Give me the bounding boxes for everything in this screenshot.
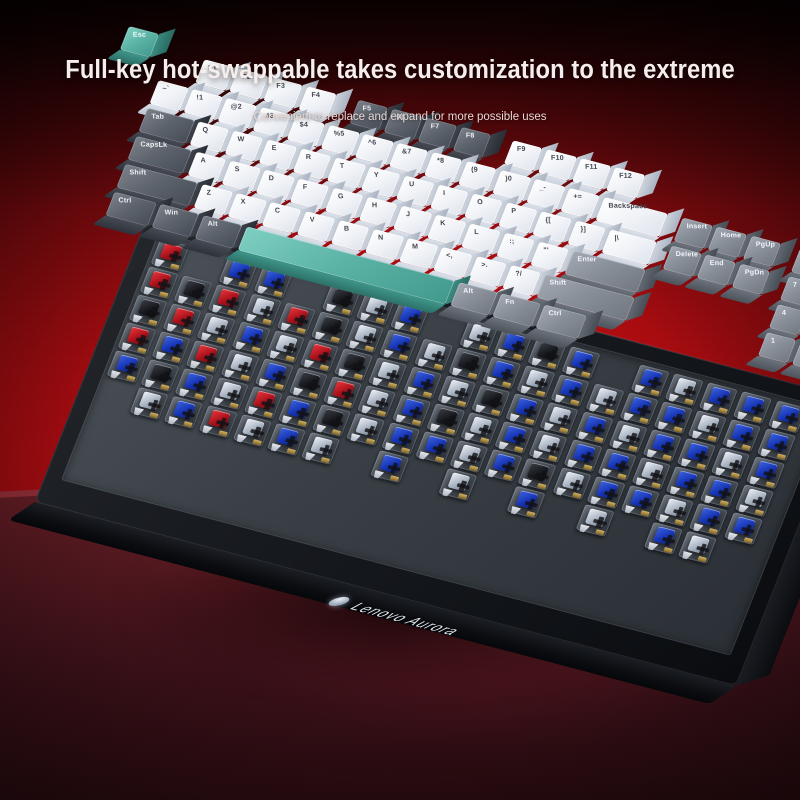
switch-socket-blue[interactable] [507, 486, 546, 519]
product-hero-image: Full-key hot-swappable takes customizati… [0, 0, 800, 800]
keycap-legend: Y [374, 171, 379, 178]
switch-socket-blue[interactable] [164, 396, 203, 429]
keycap-legend: Alt [208, 220, 218, 228]
keycap-legend: F9 [517, 145, 526, 152]
keycap-legend: U [409, 180, 415, 187]
keycap-legend: V [309, 216, 314, 223]
keycap-legend: Enter [578, 255, 597, 263]
keycap-legend: "' [543, 246, 549, 253]
keycap-legend: L [475, 228, 480, 235]
keycap-legend: Alt [463, 287, 473, 295]
keycap-legend: )0 [505, 174, 512, 181]
keycap-legend: (9 [471, 165, 478, 172]
keycap-legend: ?/ [515, 269, 522, 276]
switch-socket-clear[interactable] [301, 432, 340, 465]
keycap-legend: Q [203, 126, 209, 133]
keycap-legend: X [241, 198, 246, 205]
keycap-legend: Ctrl [118, 196, 131, 204]
keycap-legend: Backspace [608, 201, 647, 209]
switch-socket-clear[interactable] [438, 468, 477, 501]
keycap-legend: Win [165, 208, 179, 216]
keycap-legend: Home [721, 231, 742, 239]
keycap-legend: O [477, 198, 483, 205]
keycap-legend: F11 [585, 163, 598, 171]
subheadline: Convenient to replace and expand for mor… [24, 109, 776, 123]
keycap-legend: T [340, 162, 345, 169]
keycap-legend: }] [580, 225, 586, 232]
keycap-legend: Esc [133, 31, 146, 39]
keycap-legend: CapsLk [140, 140, 167, 148]
keycap-legend: Delete [676, 250, 699, 258]
keycap-legend: F [303, 183, 308, 190]
circle-logo-icon [324, 596, 353, 608]
keycap-legend: PgDn [745, 268, 765, 276]
keycap-legend: R [306, 153, 312, 160]
keycap-legend: D [269, 174, 275, 181]
switch-socket-clear[interactable] [575, 504, 614, 537]
keycap-legend: F12 [619, 172, 632, 180]
keycap-esc-floating[interactable]: Esc [120, 26, 159, 58]
keycap-legend: C [275, 207, 281, 214]
keycap-insert-nav[interactable]: Insert [674, 217, 713, 249]
headline: Full-key hot-swappable takes customizati… [28, 56, 772, 85]
switch-socket-clear[interactable] [233, 414, 272, 447]
keycap-legend: >. [481, 260, 488, 267]
keycap-legend: S [235, 165, 240, 172]
keycap-legend: Shift [129, 168, 146, 176]
keycap-legend: *8 [437, 156, 444, 163]
switch-socket-blue[interactable] [644, 522, 683, 555]
keycap-legend: <, [447, 252, 454, 259]
keycap-legend: F7 [431, 123, 440, 130]
keycap-legend: PgUp [756, 240, 776, 248]
switch-socket-clear[interactable] [130, 387, 169, 420]
keycap-legend: G [338, 192, 344, 199]
keycap-legend: N [378, 234, 384, 241]
keycap-legend: 7 [793, 281, 797, 288]
keycap-legend: A [200, 156, 206, 163]
keycap-legend: M [412, 243, 418, 250]
keycap-legend: %5 [334, 130, 345, 138]
keycap-legend: _- [540, 183, 547, 190]
keycap-legend: B [344, 225, 350, 232]
keycap-legend: Ctrl [549, 309, 562, 317]
keycap-legend: &7 [402, 147, 412, 155]
keycap-legend: W [237, 135, 244, 142]
keycap-legend: += [574, 192, 583, 199]
switch-socket-blue[interactable] [267, 423, 306, 456]
marketing-copy: Full-key hot-swappable takes customizati… [0, 56, 800, 123]
switch-socket-blue[interactable] [370, 450, 409, 483]
keycap-legend: F8 [465, 132, 474, 139]
keycap-legend: 4 [782, 309, 786, 316]
keycap-legend: H [372, 201, 378, 208]
keycap-legend: End [710, 259, 724, 267]
keycap-legend: |\ [614, 234, 619, 241]
switch-socket-clear[interactable] [678, 531, 717, 564]
keycap-legend: P [511, 207, 516, 214]
keycap-legend: Z [207, 189, 212, 196]
keycap-legend: :; [509, 237, 514, 244]
keycap-legend: Shift [549, 278, 566, 286]
keycap-legend: K [440, 219, 446, 226]
keycap-legend: F10 [551, 154, 564, 162]
keycap-legend: I [443, 189, 445, 196]
keycap-legend: J [406, 210, 410, 217]
keycap-legend: E [271, 144, 276, 151]
keycap-legend: ^6 [368, 139, 377, 146]
keycap-legend: 1 [771, 336, 775, 343]
keycap-legend: Insert [687, 222, 708, 230]
keycap-legend: {[ [546, 216, 552, 223]
switch-socket-red[interactable] [198, 405, 237, 438]
keycap-legend: Fn [506, 298, 515, 306]
